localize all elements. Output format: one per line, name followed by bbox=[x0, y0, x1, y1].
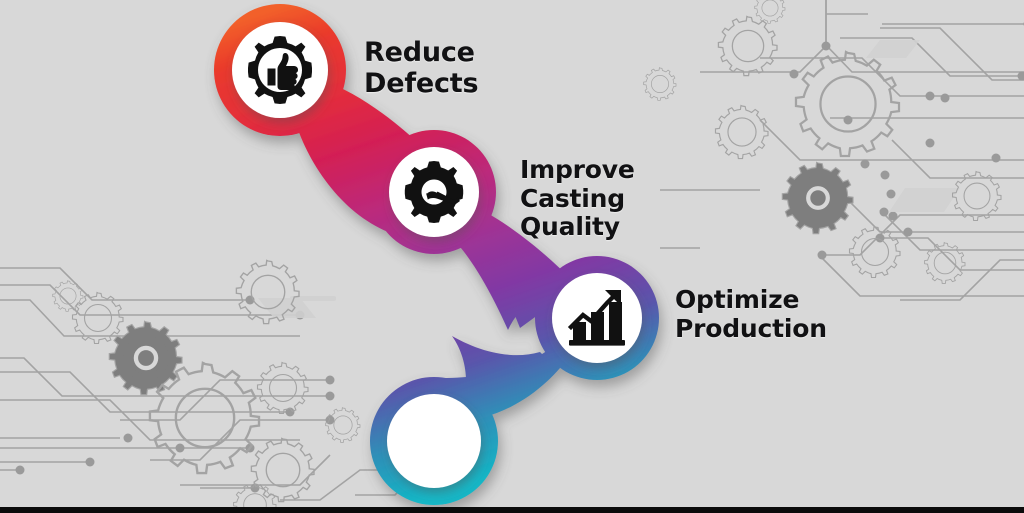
node-3-optimize-production[interactable] bbox=[535, 256, 659, 380]
node-2-improve-casting-quality[interactable] bbox=[372, 130, 496, 254]
infographic-canvas: Reduce Defects Improve Casting Quality O… bbox=[0, 0, 1024, 513]
node-1-label: Reduce Defects bbox=[364, 38, 478, 100]
node-3-label: Optimize Production bbox=[675, 286, 827, 343]
node-4-placeholder[interactable] bbox=[370, 377, 498, 505]
node-1-reduce-defects[interactable] bbox=[214, 4, 346, 136]
node-2-label: Improve Casting Quality bbox=[520, 156, 635, 242]
process-chain-ribbon bbox=[0, 0, 1024, 513]
letterbox-bar bbox=[0, 507, 1024, 513]
